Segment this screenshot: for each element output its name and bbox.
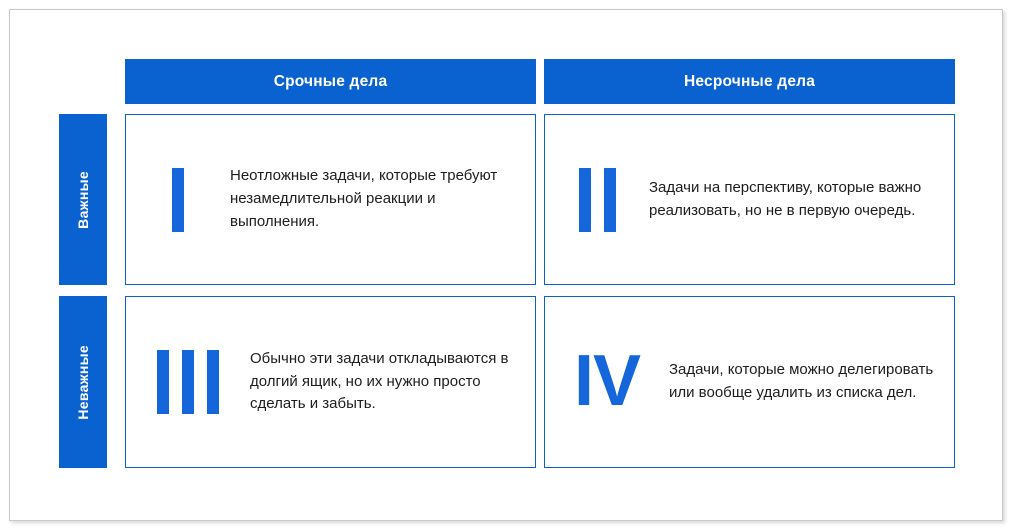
numeral-bar (579, 168, 591, 232)
numeral-bar (172, 168, 184, 232)
quadrant-i: Неотложные задачи, которые требуют незам… (125, 114, 536, 285)
row-label-important-text: Важные (75, 171, 91, 229)
column-header-not-urgent: Несрочные дела (544, 59, 955, 104)
quadrant-iv-numeral: IV (545, 350, 669, 413)
quadrant-grid: Неотложные задачи, которые требуют незам… (125, 114, 955, 474)
page-background: Срочные дела Несрочные дела Важные Неваж… (0, 0, 1012, 530)
quadrant-iv: IV Задачи, которые можно делегировать ил… (544, 296, 955, 468)
numeral-bar (604, 168, 616, 232)
row-label-column: Важные Неважные (59, 114, 115, 474)
quadrant-iv-description: Задачи, которые можно делегировать или в… (669, 359, 954, 405)
quadrant-iii: Обычно эти задачи откладываются в долгий… (125, 296, 536, 468)
column-header-not-urgent-label: Несрочные дела (684, 73, 815, 91)
row-label-not-important: Неважные (59, 296, 107, 468)
quadrant-iii-numeral (126, 350, 250, 414)
numeral-bars-i (172, 168, 184, 232)
numeral-bars-iii (157, 350, 219, 414)
quadrant-ii: Задачи на перспективу, которые важно реа… (544, 114, 955, 285)
column-header-row: Срочные дела Несрочные дела (125, 59, 955, 104)
quadrant-ii-description: Задачи на перспективу, которые важно реа… (649, 177, 954, 223)
row-label-important: Важные (59, 114, 107, 285)
quadrant-iii-description: Обычно эти задачи откладываются в долгий… (250, 348, 535, 416)
numeral-bar (182, 350, 194, 414)
diagram-card: Срочные дела Несрочные дела Важные Неваж… (9, 9, 1003, 521)
quadrant-i-numeral (126, 168, 230, 232)
numeral-glyph-iv: IV (574, 350, 640, 413)
column-header-urgent: Срочные дела (125, 59, 536, 104)
column-header-urgent-label: Срочные дела (274, 73, 388, 91)
numeral-bars-ii (579, 168, 616, 232)
quadrant-i-description: Неотложные задачи, которые требуют незам… (230, 165, 535, 233)
numeral-bar (207, 350, 219, 414)
eisenhower-matrix: Срочные дела Несрочные дела Важные Неваж… (59, 59, 955, 474)
numeral-bar (157, 350, 169, 414)
quadrant-ii-numeral (545, 168, 649, 232)
row-label-not-important-text: Неважные (75, 345, 91, 420)
